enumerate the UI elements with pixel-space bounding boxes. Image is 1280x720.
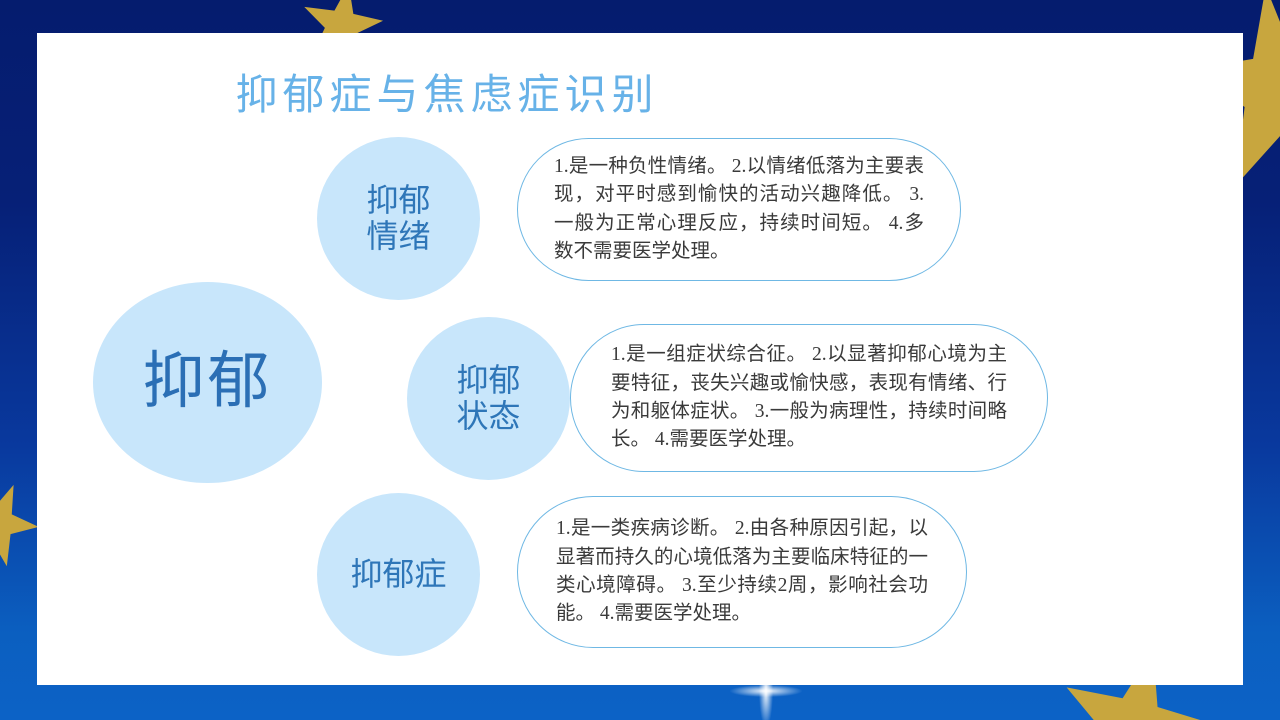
concept-circle-2-label: 抑郁 状态 [456,363,520,435]
slide-canvas: 抑郁症与焦虑症识别 抑郁 抑郁 情绪 1.是一种负性情绪。 2.以情绪低落为主要… [0,0,1280,720]
concept-circle-2-line2: 状态 [456,399,520,435]
content-card: 抑郁症与焦虑症识别 抑郁 抑郁 情绪 1.是一种负性情绪。 2.以情绪低落为主要… [37,33,1243,685]
description-pill-3: 1.是一类疾病诊断。 2.由各种原因引起，以显著而持久的心境低落为主要临床特征的… [517,496,967,648]
concept-circle-2: 抑郁 状态 [407,317,570,480]
concept-circle-3: 抑郁症 [317,493,480,656]
main-concept-circle: 抑郁 [93,282,322,483]
description-text-2: 1.是一组症状综合征。 2.以显著抑郁心境为主要特征，丧失兴趣或愉快感，表现有情… [611,341,1007,454]
description-text-3: 1.是一类疾病诊断。 2.由各种原因引起，以显著而持久的心境低落为主要临床特征的… [556,515,928,628]
main-concept-label: 抑郁 [142,348,272,417]
concept-circle-1-line2: 情绪 [366,219,430,255]
description-pill-1: 1.是一种负性情绪。 2.以情绪低落为主要表现，对平时感到愉快的活动兴趣降低。 … [517,138,961,281]
concept-circle-1: 抑郁 情绪 [317,137,480,300]
description-pill-2: 1.是一组症状综合征。 2.以显著抑郁心境为主要特征，丧失兴趣或愉快感，表现有情… [570,324,1048,472]
concept-circle-1-label: 抑郁 情绪 [366,183,430,255]
concept-circle-3-label: 抑郁症 [350,557,446,593]
concept-circle-2-line1: 抑郁 [456,363,520,399]
description-text-1: 1.是一种负性情绪。 2.以情绪低落为主要表现，对平时感到愉快的活动兴趣降低。 … [554,153,924,266]
page-title: 抑郁症与焦虑症识别 [37,61,857,122]
concept-circle-3-line1: 抑郁症 [350,557,446,593]
concept-circle-1-line1: 抑郁 [366,183,430,219]
